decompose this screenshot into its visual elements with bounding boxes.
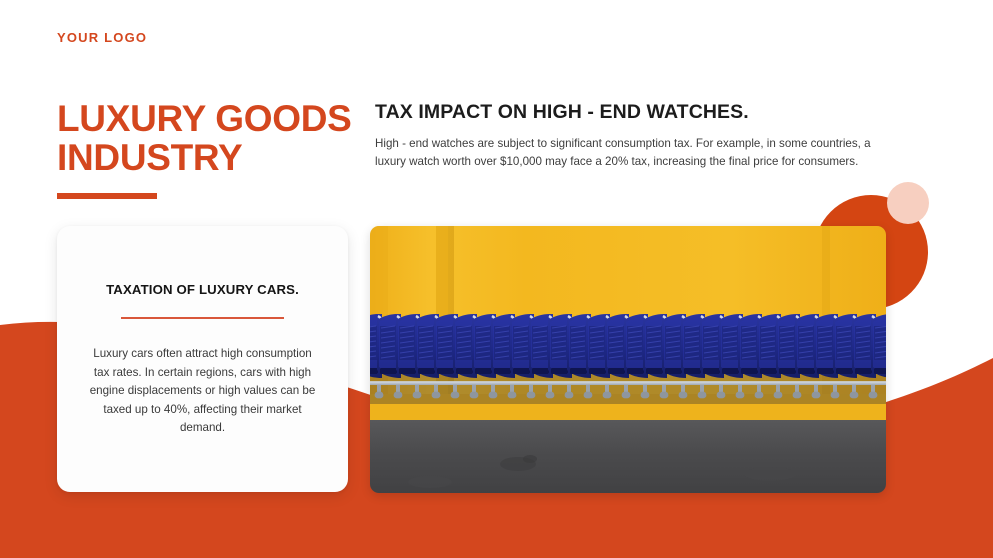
title-underline-bar	[57, 193, 157, 199]
info-card-divider	[121, 317, 284, 319]
small-peach-circle	[887, 182, 929, 224]
title-block: LUXURY GOODS INDUSTRY	[57, 99, 357, 199]
right-text-block: TAX IMPACT ON HIGH - END WATCHES. High -…	[375, 100, 887, 170]
section-paragraph: High - end watches are subject to signif…	[375, 135, 887, 170]
logo-text: YOUR LOGO	[57, 30, 147, 45]
info-card: TAXATION OF LUXURY CARS. Luxury cars oft…	[57, 226, 348, 492]
info-card-title: TAXATION OF LUXURY CARS.	[85, 282, 320, 297]
shopping-carts-photo	[370, 226, 886, 493]
page-title-line-1: LUXURY GOODS	[57, 99, 357, 138]
presentation-slide: YOUR LOGO LUXURY GOODS INDUSTRY TAX IMPA…	[0, 0, 993, 558]
page-title: LUXURY GOODS INDUSTRY	[57, 99, 357, 177]
info-card-body: Luxury cars often attract high consumpti…	[85, 345, 320, 438]
page-title-line-2: INDUSTRY	[57, 138, 357, 177]
section-heading: TAX IMPACT ON HIGH - END WATCHES.	[375, 100, 887, 124]
